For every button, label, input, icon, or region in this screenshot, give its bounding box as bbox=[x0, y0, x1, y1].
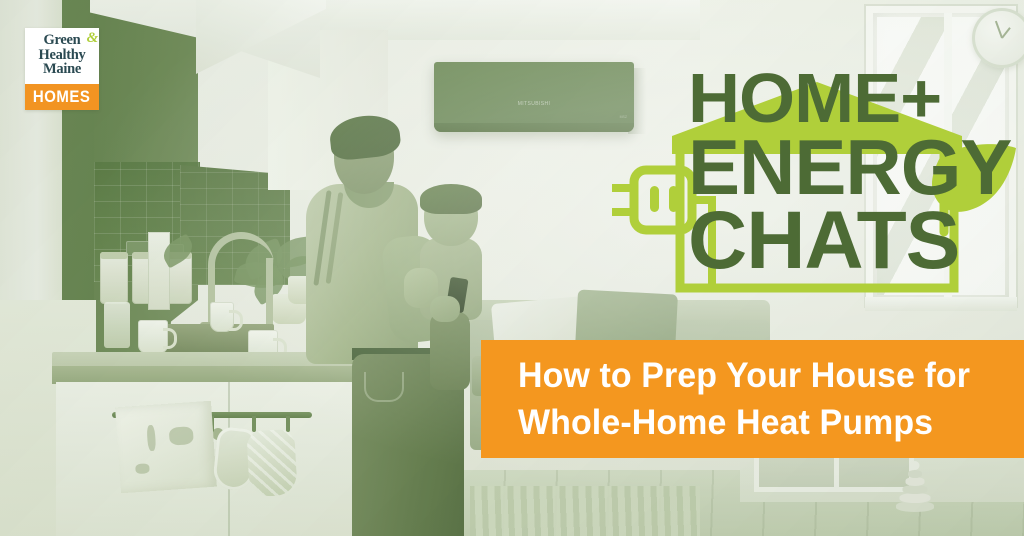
series-logo[interactable]: HOME+ ENERGY CHATS bbox=[612, 36, 1024, 304]
brand-logo-wordmark: Green& Healthy Maine bbox=[25, 28, 99, 77]
title-text: How to Prep Your House for Whole-Home He… bbox=[518, 352, 997, 446]
brand-logo-line1: Green& bbox=[25, 33, 99, 48]
brand-logo-badge-label: HOMES bbox=[33, 87, 91, 107]
brand-logo[interactable]: Green& Healthy Maine HOMES bbox=[25, 28, 99, 110]
ampersand-icon: & bbox=[87, 31, 98, 46]
title-line-2: Whole-Home Heat Pumps bbox=[518, 399, 997, 446]
banner-image: MITSUBISHI MSZ bbox=[0, 0, 1024, 536]
title-banner: How to Prep Your House for Whole-Home He… bbox=[481, 340, 1024, 458]
brand-logo-line3: Maine bbox=[25, 62, 99, 77]
series-logo-line3: CHATS bbox=[688, 194, 959, 288]
brand-logo-line2: Healthy bbox=[25, 48, 99, 63]
series-logo-wordmark: HOME+ ENERGY CHATS bbox=[612, 36, 1024, 304]
brand-logo-badge: HOMES bbox=[25, 84, 99, 110]
title-line-1: How to Prep Your House for bbox=[518, 352, 997, 399]
